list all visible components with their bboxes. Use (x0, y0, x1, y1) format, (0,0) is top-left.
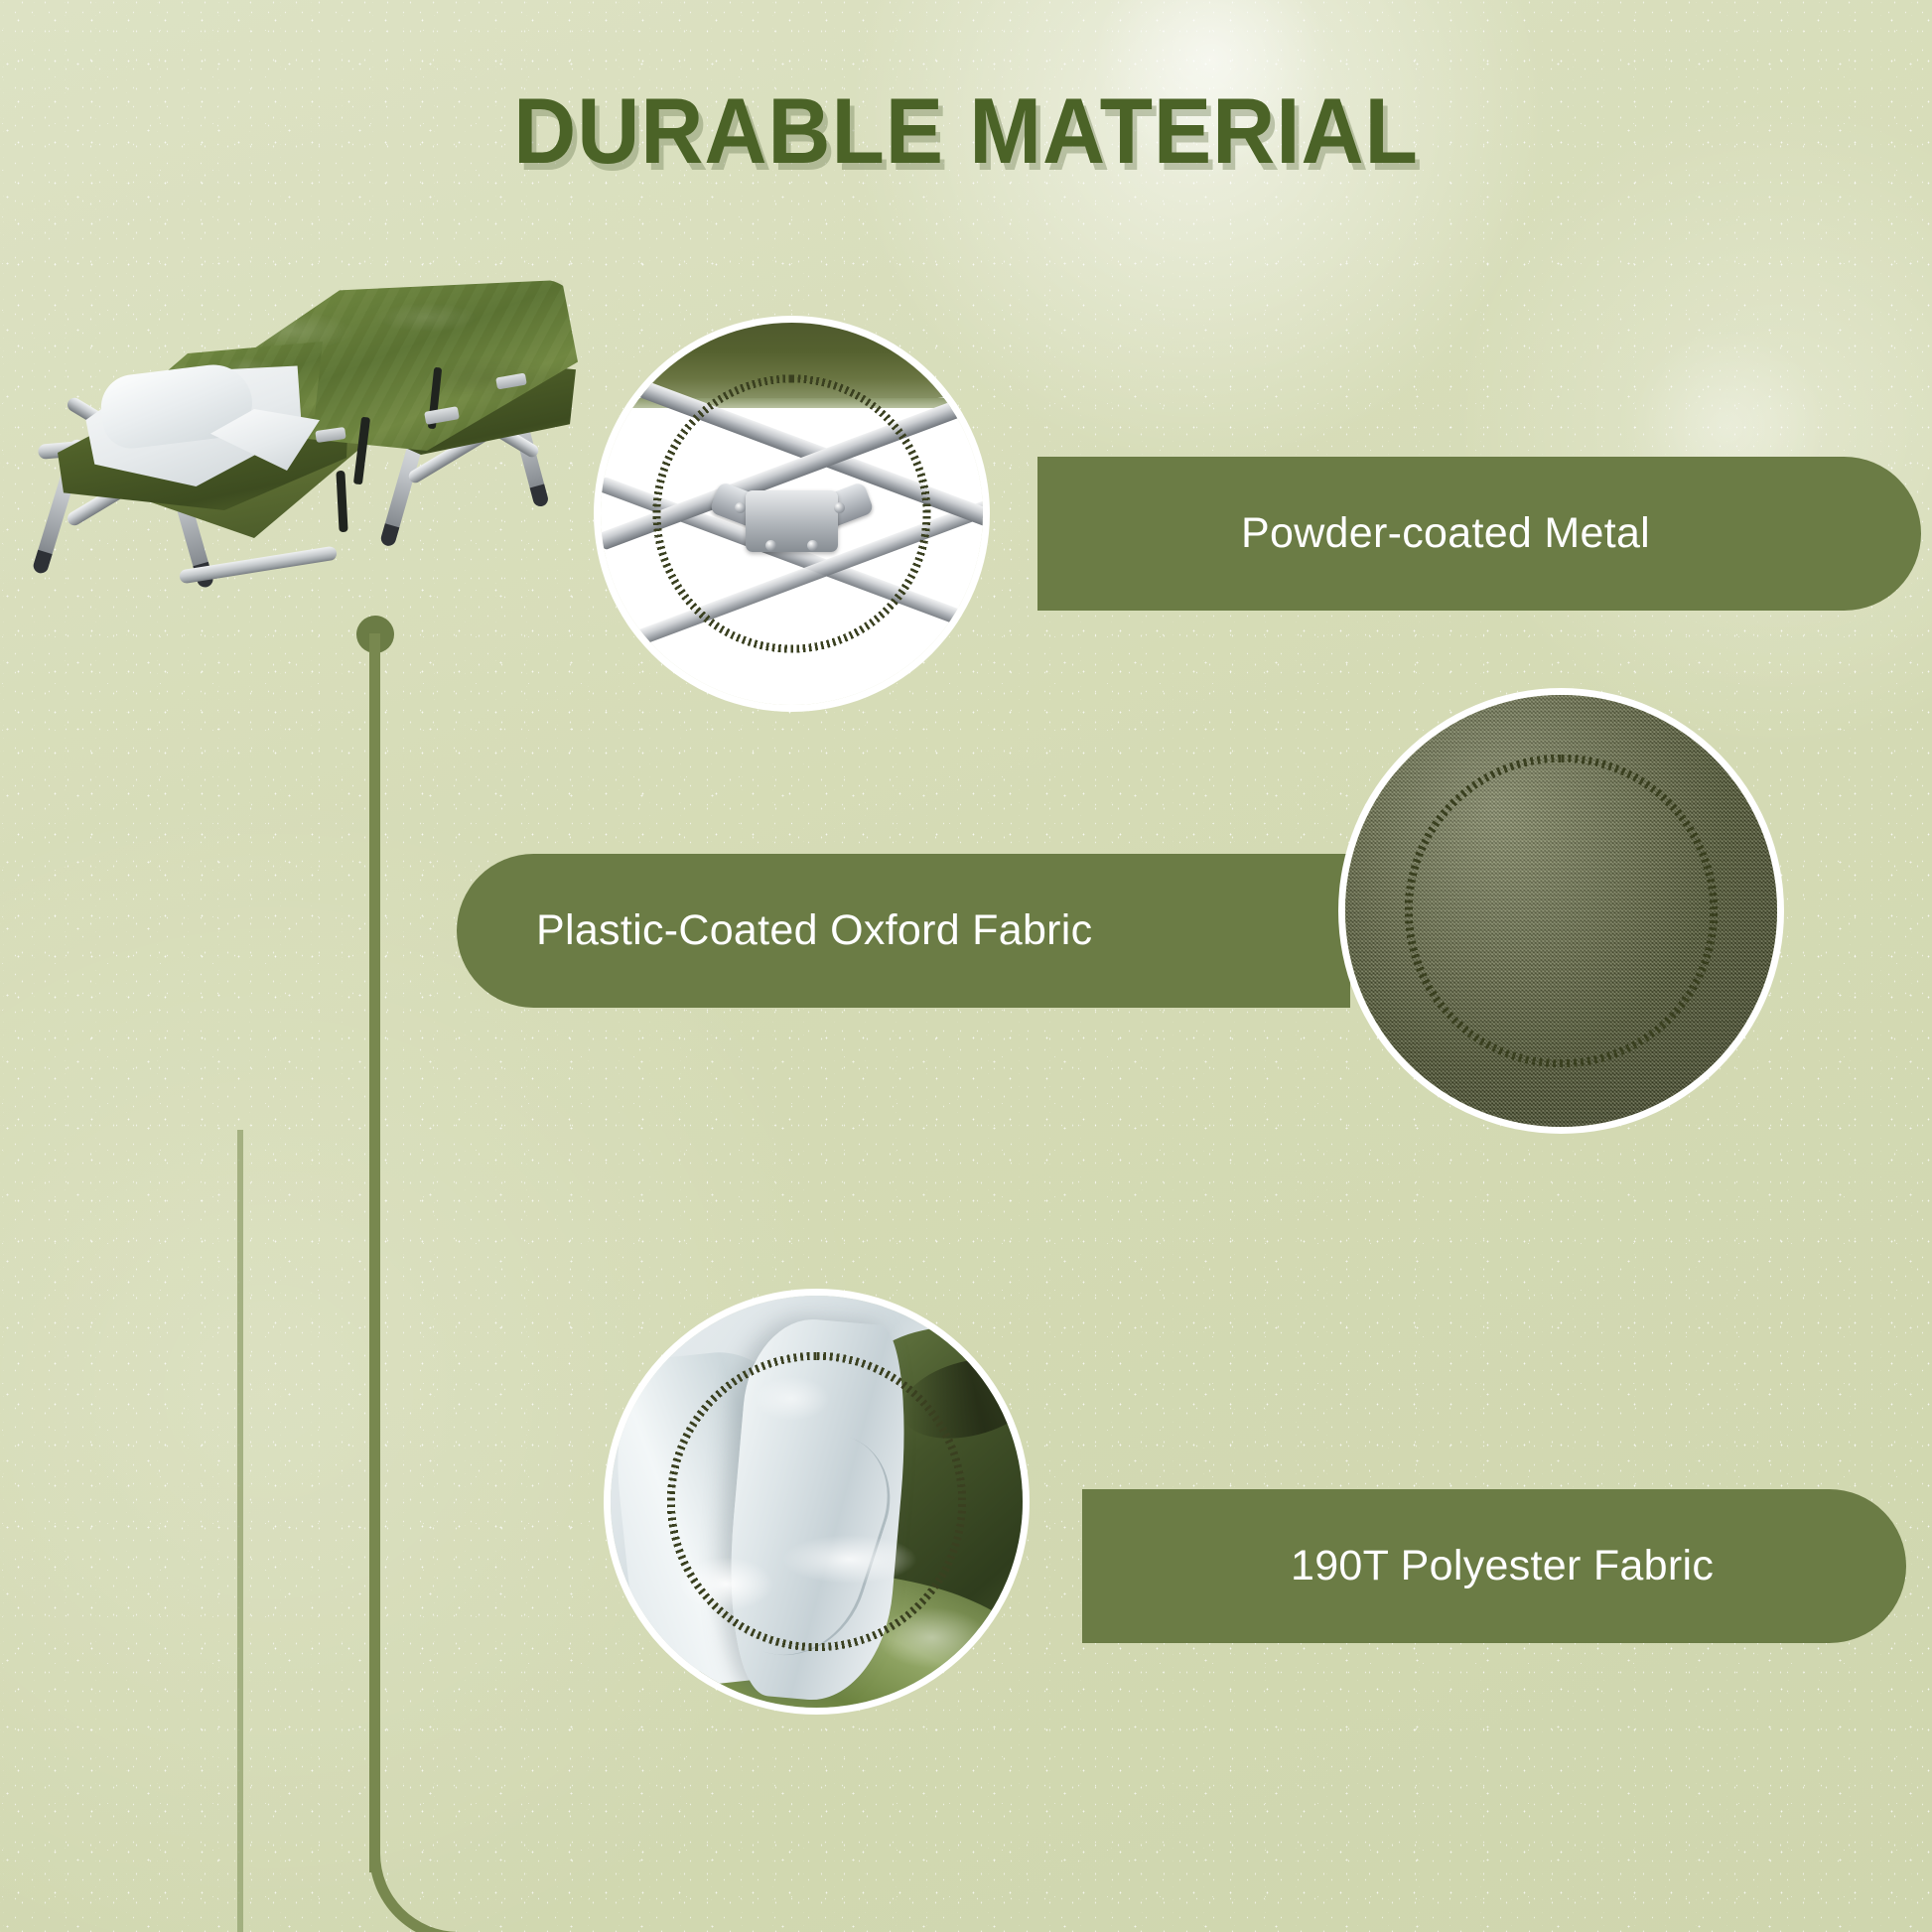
sleeping-bag-lining-closeup-icon (611, 1296, 1023, 1708)
oxford-fabric-swatch-icon (1345, 695, 1777, 1127)
feature-label: Powder-coated Metal (1241, 509, 1650, 558)
feature-pill-190t-polyester-fabric: 190T Polyester Fabric (1082, 1489, 1906, 1643)
page-title: DURABLE MATERIAL (68, 77, 1864, 185)
decorative-thin-rule (237, 1130, 243, 1932)
connector-line-icon (369, 633, 380, 1872)
feature-label: Plastic-Coated Oxford Fabric (536, 906, 1092, 955)
feature-pill-plastic-coated-oxford-fabric: Plastic-Coated Oxford Fabric (457, 854, 1350, 1008)
feature-pill-powder-coated-metal: Powder-coated Metal (1037, 457, 1921, 611)
metal-frame-closeup-icon (601, 323, 983, 705)
feature-label: 190T Polyester Fabric (1291, 1542, 1714, 1590)
camping-cot-with-sleeping-bag-icon (30, 260, 655, 627)
infographic-canvas: DURABLE MATERIAL (0, 0, 1932, 1932)
